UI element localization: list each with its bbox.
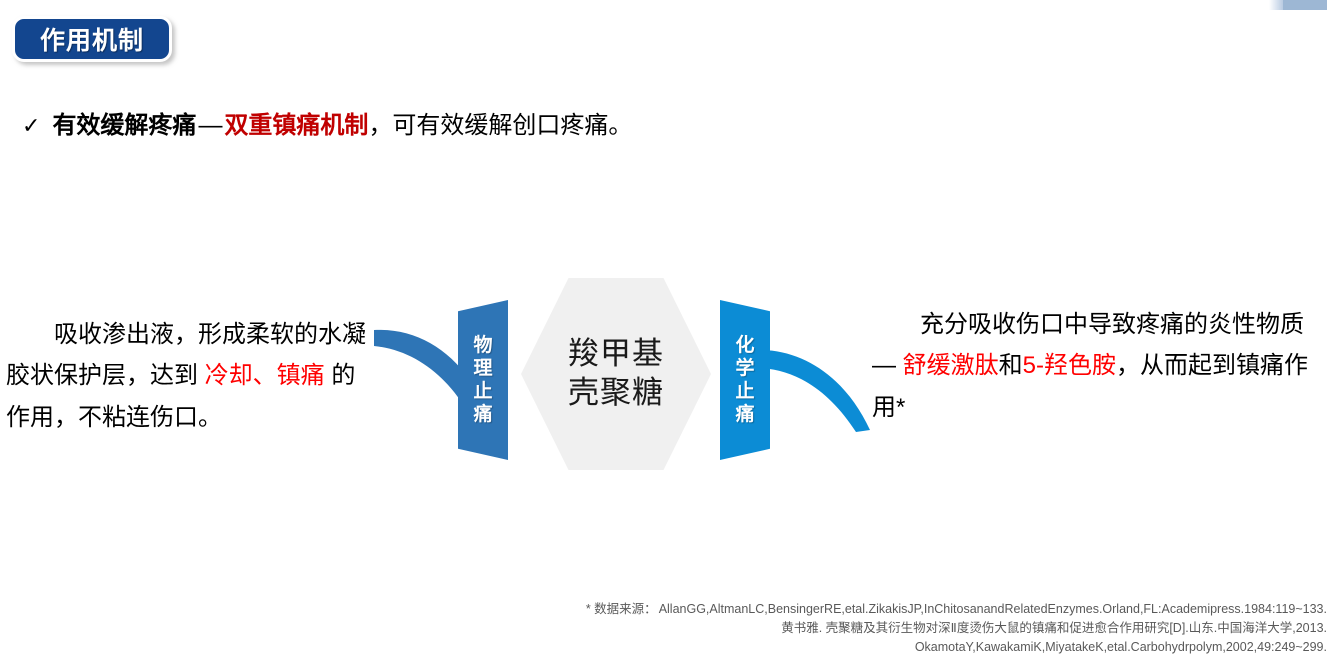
tag-char: 止: [735, 380, 754, 403]
right-flow-arrow-icon: [760, 330, 880, 435]
left-description: 吸收渗出液，形成柔软的水凝胶状保护层，达到 冷却、镇痛 的作用，不粘连伤口。: [6, 314, 378, 438]
bullet-tail: ，可有效缓解创口疼痛。: [368, 112, 632, 139]
bullet-dash: —: [196, 112, 224, 139]
footnote-ref-1: AllanGG,AltmanLC,BensingerRE,etal.Zikaki…: [659, 602, 1327, 616]
footnote-line: OkamotaY,KawakamiK,MiyatakeK,etal.Carboh…: [440, 638, 1327, 657]
bullet-row: ✓ 有效缓解疼痛—双重镇痛机制，可有效缓解创口疼痛。: [22, 112, 632, 141]
right-description: 充分吸收伤口中导致疼痛的炎性物质— 舒缓激肽和5-羟色胺，从而起到镇痛作用*: [872, 304, 1324, 428]
footnote-block: * 数据来源：AllanGG,AltmanLC,BensingerRE,etal…: [440, 600, 1327, 657]
title-badge: 作用机制: [12, 16, 172, 62]
hexagon-line-2: 壳聚糖: [568, 374, 664, 413]
footnote-ref-2: 黄书雅. 壳聚糖及其衍生物对深Ⅱ度烫伤大鼠的镇痛和促进愈合作用研究[D].山东.…: [781, 621, 1327, 635]
footnote-label: * 数据来源：: [586, 602, 657, 616]
tag-char: 理: [473, 357, 492, 380]
check-icon: ✓: [22, 113, 40, 139]
right-seg-3: 和: [999, 352, 1023, 379]
tag-char: 痛: [473, 403, 492, 426]
tag-chemical-analgesia: 化 学 止 痛: [720, 300, 770, 460]
slide-canvas: 作用机制 ✓ 有效缓解疼痛—双重镇痛机制，可有效缓解创口疼痛。 吸收渗出液，形成…: [0, 0, 1327, 661]
hexagon-center-node: 羧甲基 壳聚糖: [521, 278, 711, 470]
corner-accent-bar: [1283, 0, 1327, 10]
bullet-highlight: 双重镇痛机制: [224, 112, 368, 139]
hexagon-line-1: 羧甲基: [568, 335, 664, 374]
corner-accent-fade: [1269, 0, 1283, 10]
tag-char: 化: [735, 334, 754, 357]
left-seg-red: 冷却、镇痛: [205, 362, 325, 389]
right-seg-red-1: 舒缓激肽: [903, 352, 999, 379]
tag-char: 物: [473, 334, 492, 357]
footnote-line: * 数据来源：AllanGG,AltmanLC,BensingerRE,etal…: [440, 600, 1327, 619]
footnote-line: 黄书雅. 壳聚糖及其衍生物对深Ⅱ度烫伤大鼠的镇痛和促进愈合作用研究[D].山东.…: [440, 619, 1327, 638]
tag-char: 止: [473, 380, 492, 403]
right-seg-red-2: 5-羟色胺: [1023, 352, 1116, 379]
footnote-ref-3: OkamotaY,KawakamiK,MiyatakeK,etal.Carboh…: [915, 640, 1327, 654]
bullet-text: 有效缓解疼痛—双重镇痛机制，可有效缓解创口疼痛。: [52, 112, 632, 141]
tag-char: 痛: [735, 403, 754, 426]
tag-physical-analgesia: 物 理 止 痛: [458, 300, 508, 460]
bullet-lead: 有效缓解疼痛: [52, 112, 196, 139]
tag-char: 学: [735, 357, 754, 380]
title-badge-label: 作用机制: [40, 21, 144, 57]
